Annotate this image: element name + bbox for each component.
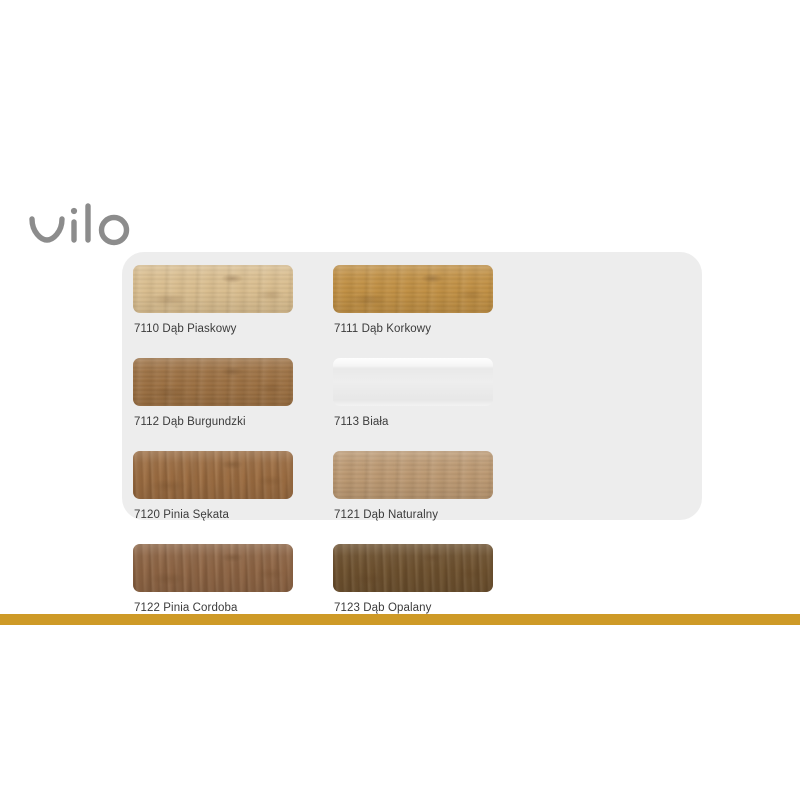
wood-grain-lines bbox=[333, 265, 493, 313]
wood-knot-texture bbox=[133, 265, 293, 313]
swatch-label: 7123 Dąb Opalany bbox=[334, 602, 432, 614]
swatch-label: 7110 Dąb Piaskowy bbox=[134, 323, 237, 335]
swatch-chip[interactable] bbox=[333, 265, 493, 313]
wood-knot-texture bbox=[133, 451, 293, 499]
wood-grain-texture bbox=[133, 265, 293, 313]
gloss-sheen bbox=[133, 451, 293, 499]
wood-knot-texture bbox=[133, 544, 293, 592]
gloss-sheen bbox=[333, 544, 493, 592]
wood-grain-lines bbox=[333, 451, 493, 499]
wood-grain-texture bbox=[333, 544, 493, 592]
swatch-label: 7112 Dąb Burgundzki bbox=[134, 416, 246, 428]
swatch-chip[interactable] bbox=[333, 544, 493, 592]
accent-bar bbox=[0, 614, 800, 625]
swatch-chip[interactable] bbox=[133, 544, 293, 592]
swatch-chip[interactable] bbox=[133, 358, 293, 406]
swatch-label: 7120 Pinia Sękata bbox=[134, 509, 229, 521]
swatch-label: 7113 Biała bbox=[334, 416, 389, 428]
swatch-item-7111[interactable]: 7111 Dąb Korkowy bbox=[333, 265, 533, 358]
wood-knot-texture bbox=[333, 265, 493, 313]
wood-grain-texture bbox=[133, 451, 293, 499]
vilo-logo bbox=[26, 198, 146, 254]
swatch-chip[interactable] bbox=[133, 265, 293, 313]
wood-knot-texture bbox=[133, 358, 293, 406]
plain-surface-texture bbox=[333, 358, 493, 406]
gloss-sheen bbox=[133, 544, 293, 592]
swatch-item-7110[interactable]: 7110 Dąb Piaskowy bbox=[133, 265, 333, 358]
wood-knot-texture bbox=[333, 544, 493, 592]
swatch-label: 7122 Pinia Cordoba bbox=[134, 602, 237, 614]
wood-grain-lines bbox=[133, 265, 293, 313]
gloss-sheen bbox=[133, 265, 293, 313]
wood-grain-texture bbox=[333, 265, 493, 313]
swatch-card: 7110 Dąb Piaskowy 7111 Dąb Korkowy 7112 … bbox=[122, 252, 702, 520]
wood-grain-texture bbox=[133, 358, 293, 406]
swatch-chip[interactable] bbox=[333, 358, 493, 406]
wood-grain-texture bbox=[133, 544, 293, 592]
swatch-item-7112[interactable]: 7112 Dąb Burgundzki bbox=[133, 358, 333, 451]
wood-grain-lines bbox=[133, 358, 293, 406]
swatch-chip[interactable] bbox=[333, 451, 493, 499]
swatch-item-7120[interactable]: 7120 Pinia Sękata bbox=[133, 451, 333, 544]
wood-grain-texture bbox=[333, 451, 493, 499]
swatch-grid: 7110 Dąb Piaskowy 7111 Dąb Korkowy 7112 … bbox=[133, 265, 693, 637]
swatch-chip[interactable] bbox=[133, 451, 293, 499]
gloss-sheen bbox=[333, 451, 493, 499]
swatch-label: 7121 Dąb Naturalny bbox=[334, 509, 438, 521]
swatch-item-7121[interactable]: 7121 Dąb Naturalny bbox=[333, 451, 533, 544]
gloss-sheen bbox=[133, 358, 293, 406]
swatch-item-7113[interactable]: 7113 Biała bbox=[333, 358, 533, 451]
swatch-label: 7111 Dąb Korkowy bbox=[334, 323, 431, 335]
gloss-sheen bbox=[333, 265, 493, 313]
